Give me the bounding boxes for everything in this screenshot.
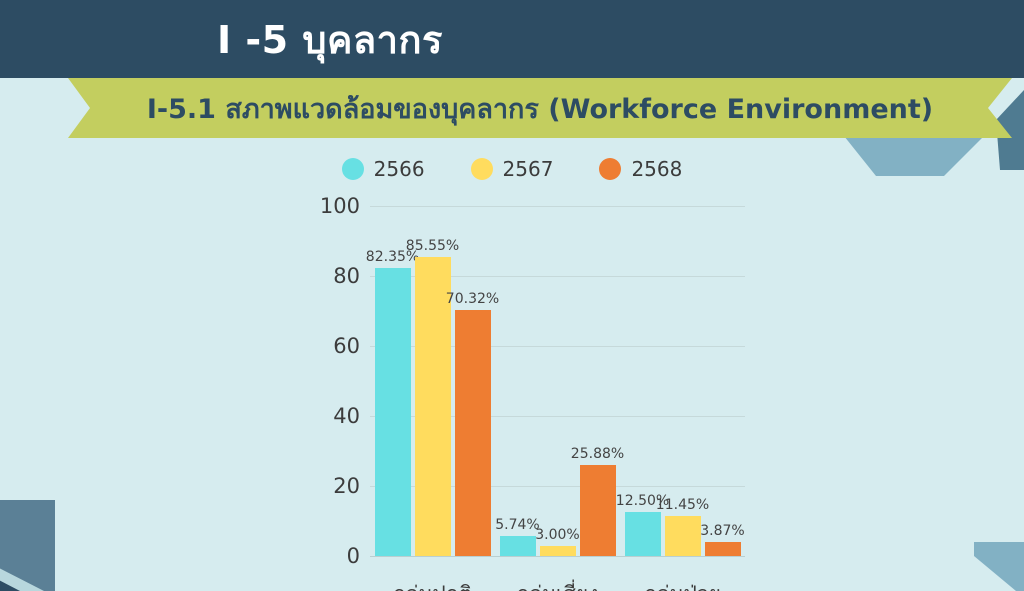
x-axis-category-label: กลุ่มเสี่ยง [517, 578, 599, 591]
bar-value-label: 5.74% [495, 517, 539, 533]
bar-value-label: 3.87% [700, 523, 744, 539]
y-axis-tick-label: 60 [300, 334, 360, 358]
bar-2567-กลุ่มเสี่ยง[interactable] [540, 546, 576, 557]
bar-value-label: 85.55% [406, 238, 459, 254]
section-banner: I-5.1 สภาพแวดล้อมของบุคลากร (Workforce E… [68, 78, 1012, 138]
legend-label: 2567 [503, 157, 554, 181]
y-axis-tick-label: 80 [300, 264, 360, 288]
legend-item-2566[interactable]: 2566 [342, 157, 425, 181]
y-axis-tick-label: 20 [300, 474, 360, 498]
bar-group: 12.50%11.45%3.87% [625, 206, 741, 556]
legend-label: 2568 [631, 157, 682, 181]
legend-swatch-icon [342, 158, 364, 180]
bar-value-label: 11.45% [656, 497, 709, 513]
section-banner-label: I-5.1 สภาพแวดล้อมของบุคลากร (Workforce E… [68, 78, 1012, 138]
bar-group: 5.74%3.00%25.88% [500, 206, 616, 556]
chart-legend: 2566 2567 2568 [0, 150, 1024, 188]
x-axis-category-label: กลุ่มป่วย [644, 578, 721, 591]
bar-value-label: 70.32% [446, 291, 499, 307]
bar-2568-กลุ่มปกติ[interactable] [455, 310, 491, 556]
bar-2566-กลุ่มป่วย[interactable] [625, 512, 661, 556]
x-axis-category-label: กลุ่มปกติ [393, 578, 472, 591]
legend-item-2568[interactable]: 2568 [599, 157, 682, 181]
chart-plot-area: 02040608010082.35%85.55%70.32%กลุ่มปกติ5… [370, 206, 745, 556]
bar-group: 82.35%85.55%70.32% [375, 206, 491, 556]
bar-2568-กลุ่มเสี่ยง[interactable] [580, 465, 616, 556]
legend-item-2567[interactable]: 2567 [471, 157, 554, 181]
bar-chart: 02040608010082.35%85.55%70.32%กลุ่มปกติ5… [300, 190, 760, 591]
bar-2567-กลุ่มป่วย[interactable] [665, 516, 701, 556]
page-title: I -5 บุคลากร [0, 4, 660, 74]
legend-label: 2566 [374, 157, 425, 181]
legend-swatch-icon [471, 158, 493, 180]
legend-swatch-icon [599, 158, 621, 180]
y-axis-tick-label: 40 [300, 404, 360, 428]
gridline [370, 556, 745, 557]
bar-value-label: 3.00% [535, 527, 579, 543]
bar-2566-กลุ่มเสี่ยง[interactable] [500, 536, 536, 556]
y-axis-tick-label: 100 [300, 194, 360, 218]
bar-2568-กลุ่มป่วย[interactable] [705, 542, 741, 556]
bar-value-label: 25.88% [571, 446, 624, 462]
bar-2566-กลุ่มปกติ[interactable] [375, 268, 411, 556]
slide-canvas: I -5 บุคลากร I-5.1 สภาพแวดล้อมของบุคลากร… [0, 0, 1024, 591]
y-axis-tick-label: 0 [300, 544, 360, 568]
